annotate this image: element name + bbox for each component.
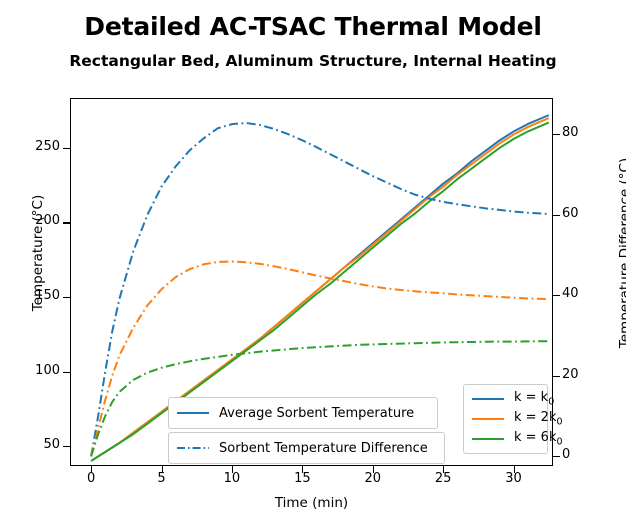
y-tick-label-right: 60 — [562, 206, 579, 221]
x-tick-mark — [373, 466, 374, 473]
y-tick-label-right: 80 — [562, 125, 579, 140]
y-tick-mark-left — [63, 297, 70, 298]
legend-item: k = 6k0 — [471, 429, 540, 449]
legend-item: k = k0 — [471, 389, 540, 409]
x-tick-label: 30 — [505, 471, 522, 486]
legend-label: Sorbent Temperature Difference — [219, 441, 428, 456]
legend-linestyle-average: Average Sorbent Temperature — [168, 397, 438, 429]
x-tick-mark — [514, 466, 515, 473]
page-title: Detailed AC-TSAC Thermal Model — [0, 12, 626, 41]
y-tick-mark-right — [553, 134, 560, 135]
y-tick-mark-right — [553, 376, 560, 377]
y-tick-label-right: 20 — [562, 367, 579, 382]
x-tick-label: 5 — [157, 471, 165, 486]
legend-label-k2: k = 2k0 — [514, 410, 563, 428]
chart-figure: Detailed AC-TSAC Thermal Model Rectangul… — [0, 0, 626, 524]
x-tick-label: 15 — [294, 471, 311, 486]
legend-label-k0: k = k0 — [514, 390, 554, 408]
chart-subtitle: Rectangular Bed, Aluminum Structure, Int… — [0, 52, 626, 70]
x-axis-label: Time (min) — [70, 495, 553, 511]
y-tick-mark-left — [63, 222, 70, 223]
x-tick-mark — [91, 466, 92, 473]
y-tick-mark-left — [63, 148, 70, 149]
legend-conductivity: k = k0 k = 2k0 k = 6k0 — [463, 384, 548, 454]
y-tick-label-left: 200 — [35, 213, 60, 228]
y-tick-label-left: 150 — [35, 288, 60, 303]
legend-linestyle-difference: Sorbent Temperature Difference — [168, 432, 445, 464]
x-tick-mark — [302, 466, 303, 473]
x-tick-mark — [443, 466, 444, 473]
y-tick-mark-right — [553, 295, 560, 296]
y-axis-right-label: Temperature Difference (°C) — [617, 128, 626, 378]
legend-swatch-k2-icon — [471, 412, 505, 426]
y-tick-label-left: 50 — [43, 437, 60, 452]
legend-item: k = 2k0 — [471, 409, 540, 429]
y-tick-label-left: 250 — [35, 139, 60, 154]
y-tick-mark-left — [63, 446, 70, 447]
legend-label: Average Sorbent Temperature — [219, 406, 414, 421]
legend-item: Sorbent Temperature Difference — [176, 437, 437, 459]
legend-sample-solid-icon — [176, 406, 210, 420]
y-axis-left-label: Temperature (°C) — [30, 153, 46, 353]
legend-sample-dashdot-icon — [176, 441, 210, 455]
legend-label-k6: k = 6k0 — [514, 430, 563, 448]
y-tick-label-right: 0 — [562, 447, 570, 462]
x-tick-label: 25 — [435, 471, 452, 486]
legend-item: Average Sorbent Temperature — [176, 402, 430, 424]
legend-swatch-k6-icon — [471, 432, 505, 446]
x-tick-mark — [162, 466, 163, 473]
x-tick-mark — [232, 466, 233, 473]
y-tick-label-right: 40 — [562, 286, 579, 301]
legend-swatch-k0-icon — [471, 392, 505, 406]
y-tick-label-left: 100 — [35, 363, 60, 378]
x-tick-label: 0 — [87, 471, 95, 486]
y-tick-mark-right — [553, 215, 560, 216]
y-tick-mark-right — [553, 456, 560, 457]
x-tick-label: 20 — [364, 471, 381, 486]
y-tick-mark-left — [63, 372, 70, 373]
x-tick-label: 10 — [224, 471, 241, 486]
